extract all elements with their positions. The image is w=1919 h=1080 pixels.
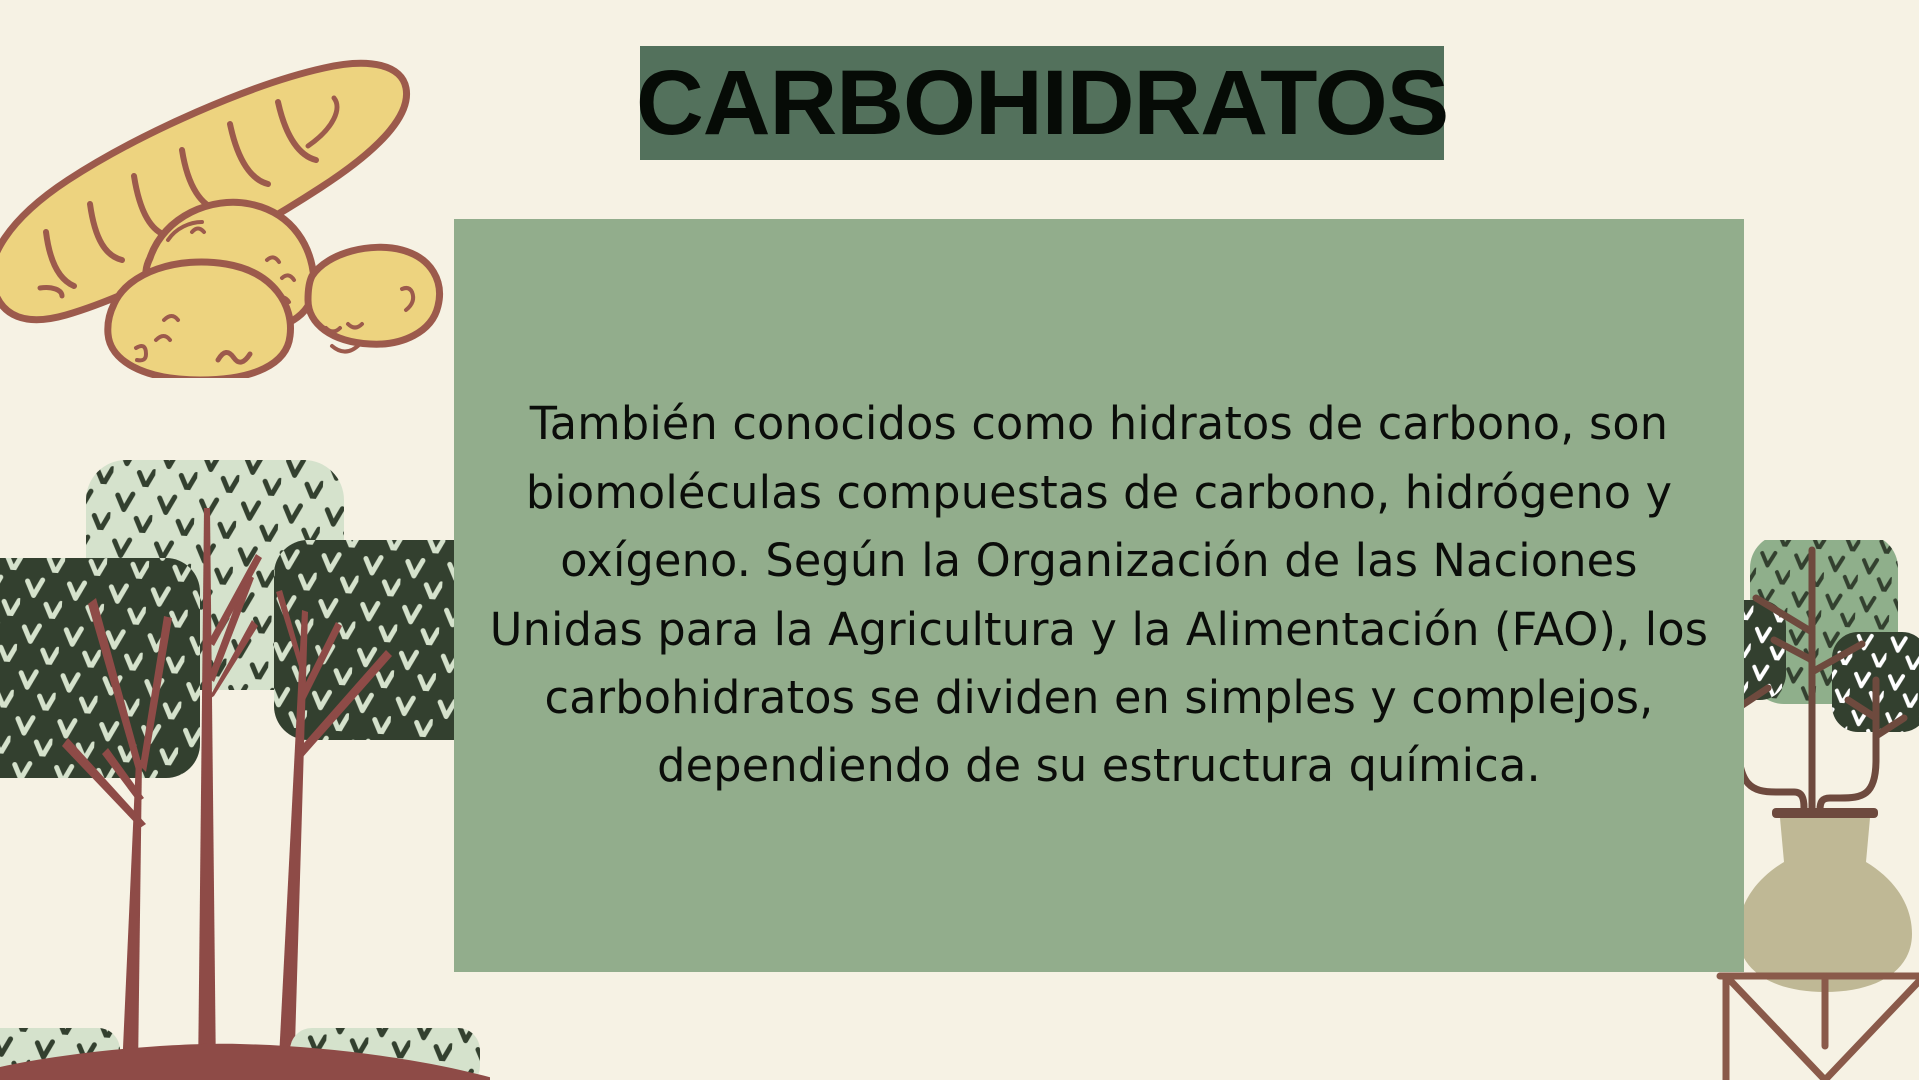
tree-foliage-dark-left <box>0 558 200 778</box>
ground-bushes <box>0 1028 480 1080</box>
body-paragraph: También conocidos como hidratos de carbo… <box>488 390 1710 800</box>
page-title: CARBOHIDRATOS <box>636 57 1448 149</box>
bread-and-potatoes-illustration <box>0 28 452 378</box>
trees-illustration <box>0 430 490 1080</box>
vase-body <box>1738 818 1912 992</box>
slide-canvas: CARBOHIDRATOS También conocidos como hid… <box>0 0 1919 1080</box>
vase-stand <box>1720 976 1919 1080</box>
plant-foliage-dark-right <box>1832 632 1919 732</box>
tree-foliage-light <box>86 460 344 690</box>
tree-trunks <box>62 508 392 1078</box>
ground-mound <box>0 1044 490 1080</box>
title-banner: CARBOHIDRATOS <box>640 46 1444 160</box>
body-text-panel: También conocidos como hidratos de carbo… <box>454 219 1744 972</box>
vase-neck-band <box>1772 808 1878 818</box>
plant-foliage-mid <box>1750 540 1898 704</box>
